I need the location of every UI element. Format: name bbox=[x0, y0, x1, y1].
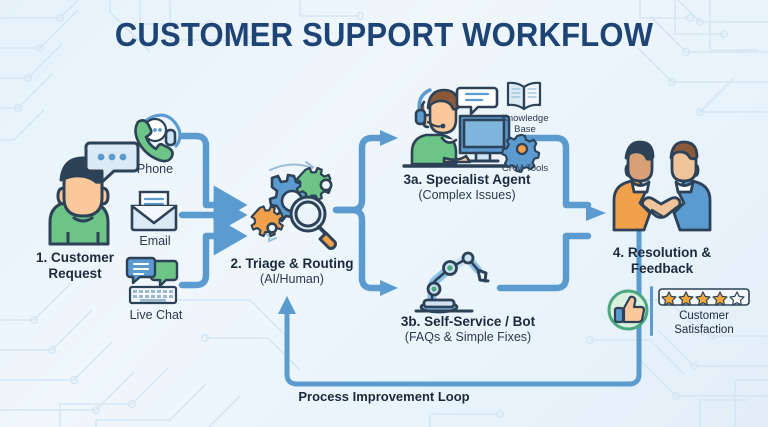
node-self-service-bot: 3b. Self-Service / Bot (FAQs & Simple Fi… bbox=[366, 314, 570, 345]
specialist-title: 3a. Specialist Agent bbox=[372, 172, 562, 188]
channel-label-email: Email bbox=[110, 234, 200, 248]
channel-label-phone: Phone bbox=[110, 162, 200, 176]
satisfaction-label-line1: Customer bbox=[679, 310, 729, 322]
workflow-infographic: CUSTOMER SUPPORT WORKFLOW bbox=[0, 0, 768, 427]
tool-label-knowledge-base-line1: Knowledge bbox=[501, 113, 548, 124]
triage-subtitle: (AI/Human) bbox=[208, 272, 376, 287]
loop-label: Process Improvement Loop bbox=[0, 389, 768, 404]
bot-title: 3b. Self-Service / Bot bbox=[366, 314, 570, 330]
resolution-title: 4. Resolution & bbox=[594, 245, 730, 261]
specialist-subtitle: (Complex Issues) bbox=[372, 188, 562, 203]
satisfaction-label: Customer Satisfaction bbox=[652, 310, 756, 338]
satisfaction-label-line2: Satisfaction bbox=[674, 324, 733, 336]
gears-magnifier-icon bbox=[240, 158, 344, 254]
triage-title: 2. Triage & Routing bbox=[208, 256, 376, 272]
bot-subtitle: (FAQs & Simple Fixes) bbox=[366, 330, 570, 345]
live-chat-keyboard-icon bbox=[124, 256, 184, 306]
channel-label-live-chat: Live Chat bbox=[108, 308, 204, 322]
satisfaction-divider bbox=[650, 286, 653, 336]
node-specialist-agent: 3a. Specialist Agent (Complex Issues) bbox=[372, 172, 562, 203]
thumbs-up-icon bbox=[606, 288, 650, 332]
gear-icon bbox=[506, 134, 540, 166]
rating-stars bbox=[658, 288, 750, 306]
tool-label-knowledge-base-line2: Base bbox=[514, 124, 536, 135]
envelope-icon bbox=[128, 190, 180, 232]
robot-arm-icon bbox=[408, 245, 502, 317]
handshake-icon bbox=[608, 138, 716, 234]
open-book-icon bbox=[504, 80, 544, 112]
resolution-title-line2: Feedback bbox=[594, 261, 730, 277]
page-title: CUSTOMER SUPPORT WORKFLOW bbox=[23, 16, 745, 54]
node-resolution-feedback: 4. Resolution & Feedback bbox=[594, 245, 730, 276]
node-triage-routing: 2. Triage & Routing (AI/Human) bbox=[208, 256, 376, 287]
phone-headset-icon bbox=[128, 112, 180, 156]
tool-label-knowledge-base: Knowledge Base bbox=[486, 114, 564, 135]
